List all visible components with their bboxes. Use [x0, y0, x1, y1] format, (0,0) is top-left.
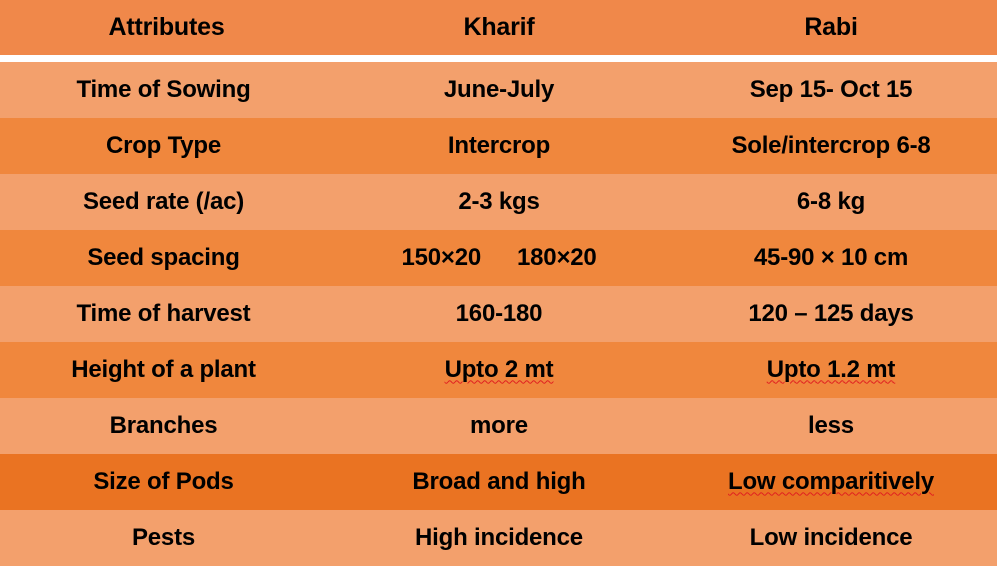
kharif-rabi-comparison-table: Attributes Kharif Rabi Time of SowingJun…	[0, 0, 997, 566]
cell-rabi: less	[665, 398, 997, 454]
cell-kharif: Broad and high	[333, 454, 665, 510]
cell-rabi: Low incidence	[665, 510, 997, 566]
cell-rabi-value: 45-90 × 10 cm	[754, 244, 908, 271]
cell-rabi: 45-90 × 10 cm	[665, 230, 997, 286]
cell-kharif-value-primary: 150×20	[401, 245, 481, 270]
cell-rabi: 120 – 125 days	[665, 286, 997, 342]
table-container: Attributes Kharif Rabi Time of SowingJun…	[0, 0, 997, 561]
header-separator-cell	[0, 55, 997, 62]
cell-rabi: Upto 1.2 mt	[665, 342, 997, 398]
table-row: Time of harvest160-180120 – 125 days	[0, 286, 997, 342]
cell-kharif-value-secondary: 180×20	[517, 245, 597, 270]
cell-rabi-value: Upto 1.2 mt	[767, 356, 895, 383]
cell-rabi-value: 6-8 kg	[797, 188, 865, 215]
cell-kharif: 2-3 kgs	[333, 174, 665, 230]
table-body: Time of SowingJune-JulySep 15- Oct 15Cro…	[0, 55, 997, 566]
cell-attribute: Branches	[0, 398, 333, 454]
table-header: Attributes Kharif Rabi	[0, 0, 997, 55]
cell-kharif-value: 2-3 kgs	[458, 188, 539, 215]
cell-rabi: 6-8 kg	[665, 174, 997, 230]
table-row: Seed rate (/ac)2-3 kgs6-8 kg	[0, 174, 997, 230]
cell-attribute: Seed rate (/ac)	[0, 174, 333, 230]
table-row: Branchesmoreless	[0, 398, 997, 454]
cell-kharif: 150×20180×20	[333, 230, 665, 286]
table-row: Time of SowingJune-JulySep 15- Oct 15	[0, 62, 997, 118]
cell-rabi-value: less	[808, 412, 854, 439]
cell-attribute: Seed spacing	[0, 230, 333, 286]
cell-rabi: Sep 15- Oct 15	[665, 62, 997, 118]
table-row: Size of PodsBroad and highLow comparitiv…	[0, 454, 997, 510]
cell-rabi-value: 120 – 125 days	[748, 300, 913, 327]
cell-rabi-value: Sep 15- Oct 15	[750, 76, 913, 103]
cell-kharif-value: Broad and high	[412, 468, 585, 495]
cell-attribute: Crop Type	[0, 118, 333, 174]
cell-attribute: Time of Sowing	[0, 62, 333, 118]
cell-attribute: Size of Pods	[0, 454, 333, 510]
cell-rabi-value: Low comparitively	[728, 468, 934, 495]
cell-kharif: High incidence	[333, 510, 665, 566]
column-header-rabi: Rabi	[665, 0, 997, 55]
cell-rabi-value: Low incidence	[750, 524, 913, 551]
header-row: Attributes Kharif Rabi	[0, 0, 997, 55]
cell-kharif: 160-180	[333, 286, 665, 342]
cell-kharif-value: Upto 2 mt	[445, 356, 554, 383]
cell-rabi-value: Sole/intercrop 6-8	[731, 132, 930, 159]
cell-rabi: Sole/intercrop 6-8	[665, 118, 997, 174]
cell-kharif-value: High incidence	[415, 524, 583, 551]
header-separator	[0, 55, 997, 62]
column-header-kharif: Kharif	[333, 0, 665, 55]
table-row: PestsHigh incidenceLow incidence	[0, 510, 997, 566]
cell-rabi: Low comparitively	[665, 454, 997, 510]
cell-kharif: June-July	[333, 62, 665, 118]
cell-attribute: Pests	[0, 510, 333, 566]
cell-kharif-value: 160-180	[456, 300, 543, 327]
cell-kharif: Intercrop	[333, 118, 665, 174]
dual-value-group: 150×20180×20	[333, 245, 665, 270]
cell-kharif-value: June-July	[444, 76, 554, 103]
cell-kharif-value: more	[470, 412, 528, 439]
cell-attribute: Time of harvest	[0, 286, 333, 342]
cell-attribute: Height of a plant	[0, 342, 333, 398]
cell-kharif-value: Intercrop	[448, 132, 550, 159]
cell-kharif: Upto 2 mt	[333, 342, 665, 398]
cell-kharif: more	[333, 398, 665, 454]
table-row: Crop TypeIntercropSole/intercrop 6-8	[0, 118, 997, 174]
table-row: Height of a plantUpto 2 mtUpto 1.2 mt	[0, 342, 997, 398]
table-row: Seed spacing150×20180×2045-90 × 10 cm	[0, 230, 997, 286]
column-header-attributes: Attributes	[0, 0, 333, 55]
